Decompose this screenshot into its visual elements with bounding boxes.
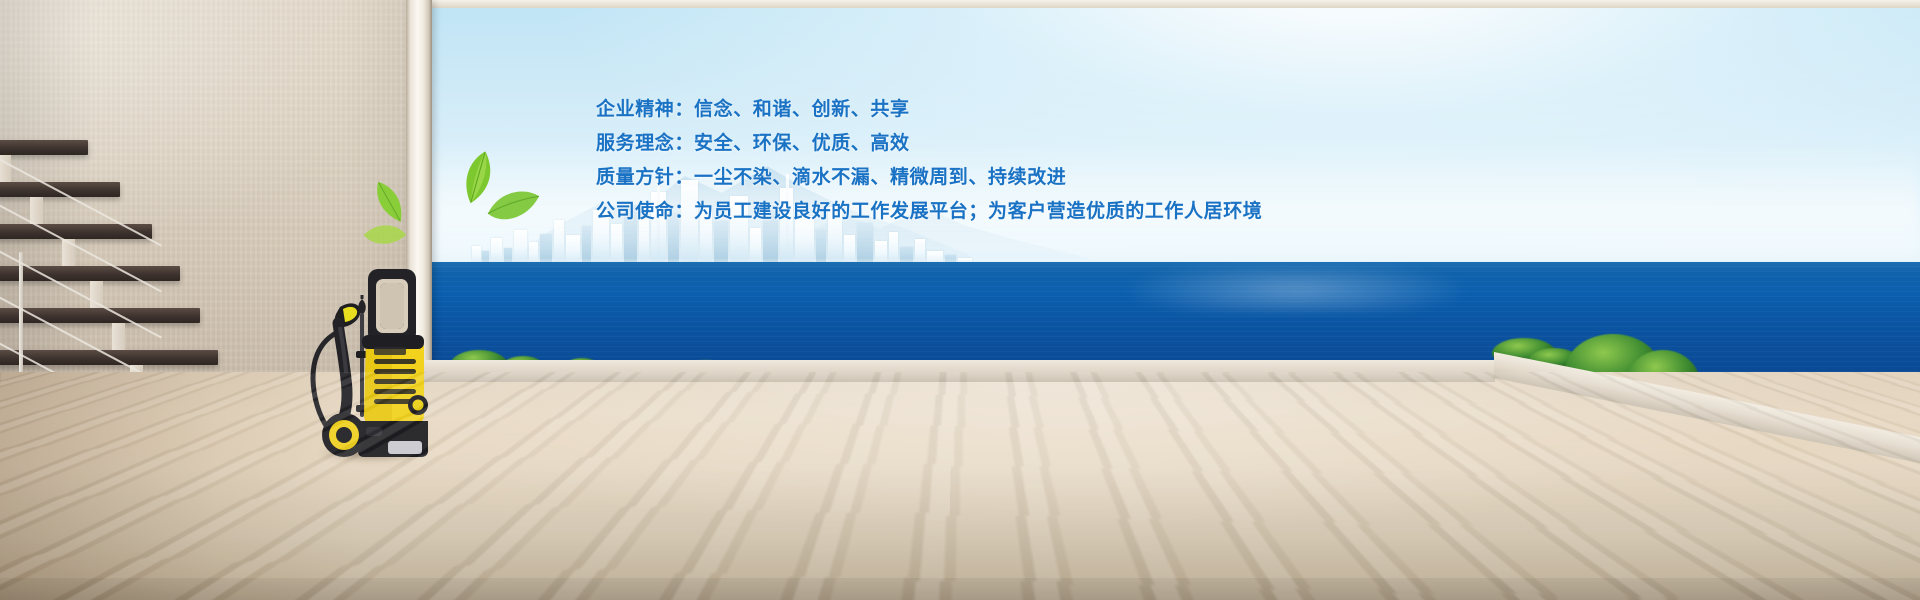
copy-line-service: 服务理念：安全、环保、优质、高效 (596, 126, 1262, 160)
baseboard-back (420, 360, 1495, 382)
washer-wheel (322, 413, 366, 457)
sea-glint (1086, 268, 1506, 312)
banner-image: 企业精神：信念、和谐、创新、共享 服务理念：安全、环保、优质、高效 质量方针：一… (0, 0, 1920, 600)
pressure-washer (300, 255, 430, 465)
spray-gun (335, 303, 360, 417)
handrail-line (0, 238, 162, 338)
copy-line-quality: 质量方针：一尘不染、滴水不漏、精微周到、持续改进 (596, 160, 1262, 194)
leaf-icon (360, 217, 410, 253)
floor-foreground-band (0, 578, 1920, 600)
copy-line-mission: 公司使命：为员工建设良好的工作发展平台；为客户营造优质的工作人居环境 (596, 194, 1262, 228)
culture-copy-block: 企业精神：信念、和谐、创新、共享 服务理念：安全、环保、优质、高效 质量方针：一… (596, 92, 1262, 228)
copy-line-spirit: 企业精神：信念、和谐、创新、共享 (596, 92, 1262, 126)
window-frame-top (406, 0, 1920, 8)
handrail-line (0, 284, 162, 384)
washer-body (358, 269, 428, 457)
leaf-icon (482, 182, 545, 228)
